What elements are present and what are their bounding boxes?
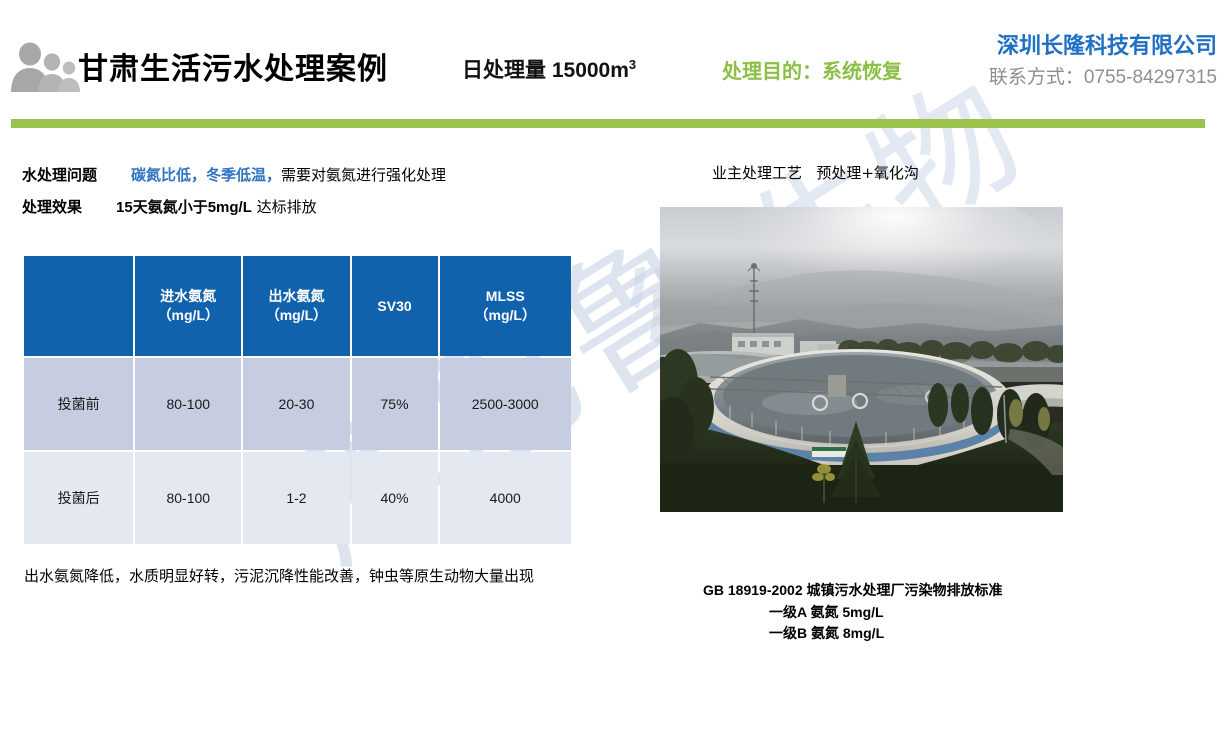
table-header-mlss: MLSS （mg/L）	[440, 256, 572, 356]
treatment-effect-suffix: 达标排放	[257, 198, 317, 216]
slide-header: 甘肃生活污水处理案例 日处理量 15000m3 处理目的：系统恢复 深圳长隆科技…	[0, 0, 1225, 128]
daily-capacity-label: 日处理量 15000m3	[462, 54, 636, 84]
page-title: 甘肃生活污水处理案例	[78, 44, 388, 88]
water-problem-label: 水处理问题	[22, 166, 97, 184]
cell-effluent-after: 1-2	[243, 452, 349, 544]
standard-grade-a-text: 一级A 氨氮 5mg/L	[769, 604, 884, 620]
company-name: 深圳长隆科技有限公司	[997, 28, 1217, 60]
header-mlss-line1: MLSS	[441, 287, 571, 306]
table-header-row: 进水氨氮 （mg/L） 出水氨氮 （mg/L） SV30 MLSS （mg/L）	[24, 256, 571, 356]
water-problem-highlight: 碳氮比低，冬季低温，	[131, 167, 281, 184]
table-header-blank	[24, 256, 133, 356]
table-header-influent: 进水氨氮 （mg/L）	[135, 256, 241, 356]
right-content-column: 业主处理工艺 预处理+氧化沟	[640, 128, 1225, 670]
cell-influent-after: 80-100	[135, 452, 241, 544]
cell-sv30-after: 40%	[352, 452, 438, 544]
table-row: 投菌后 80-100 1-2 40% 4000	[24, 452, 571, 544]
table-header-effluent: 出水氨氮 （mg/L）	[243, 256, 349, 356]
table-header-sv30: SV30	[352, 256, 438, 356]
table-row: 投菌前 80-100 20-30 75% 2500-3000	[24, 358, 571, 450]
cell-sv30-before: 75%	[352, 358, 438, 450]
results-table: 进水氨氮 （mg/L） 出水氨氮 （mg/L） SV30 MLSS （mg/L）	[22, 254, 573, 546]
row-label-before: 投菌前	[24, 358, 133, 450]
contact-info: 联系方式：0755-84297315	[989, 62, 1217, 89]
cell-influent-before: 80-100	[135, 358, 241, 450]
standard-grade-a: 一级A 氨氮 5mg/L	[703, 602, 1003, 624]
discharge-standard-block: GB 18919-2002 城镇污水处理厂污染物排放标准 一级A 氨氮 5mg/…	[703, 580, 1003, 645]
owner-process-label: 业主处理工艺	[712, 164, 802, 182]
cell-mlss-after: 4000	[440, 452, 572, 544]
header-divider	[11, 119, 1205, 128]
owner-process-value: 预处理+氧化沟	[816, 164, 919, 182]
owner-process-row: 业主处理工艺 预处理+氧化沟	[712, 162, 919, 183]
water-problem-rest: 需要对氨氮进行强化处理	[281, 166, 446, 184]
header-effluent-line2: （mg/L）	[244, 306, 348, 325]
standard-grade-b-text: 一级B 氨氮 8mg/L	[769, 625, 884, 641]
left-content-column: 水处理问题碳氮比低，冬季低温，需要对氨氮进行强化处理 处理效果15天氨氮小于5m…	[0, 128, 640, 670]
cell-mlss-before: 2500-3000	[440, 358, 572, 450]
daily-capacity-text: 日处理量 15000m	[462, 59, 629, 82]
results-caption: 出水氨氮降低，水质明显好转，污泥沉降性能改善，钟虫等原生动物大量出现	[24, 565, 534, 586]
treatment-purpose-label: 处理目的：系统恢复	[722, 55, 902, 84]
water-problem-row: 水处理问题碳氮比低，冬季低温，需要对氨氮进行强化处理	[22, 164, 446, 185]
slide-root: 库巴鲁 微生物 甘肃生活污水处理案例 日处理量 15000m3 处理目的：系统恢…	[0, 0, 1225, 670]
treatment-effect-value: 15天氨氮小于5mg/L	[116, 199, 252, 216]
people-group-icon	[8, 40, 80, 92]
header-sv30-line1: SV30	[353, 297, 437, 316]
standard-grade-b: 一级B 氨氮 8mg/L	[703, 623, 1003, 645]
treatment-effect-label: 处理效果	[22, 198, 82, 216]
treatment-effect-row: 处理效果15天氨氮小于5mg/L 达标排放	[22, 196, 317, 217]
header-influent-line1: 进水氨氮	[136, 287, 240, 306]
header-effluent-line1: 出水氨氮	[244, 287, 348, 306]
row-label-after: 投菌后	[24, 452, 133, 544]
header-mlss-line2: （mg/L）	[441, 306, 571, 325]
standard-title: GB 18919-2002 城镇污水处理厂污染物排放标准	[703, 580, 1003, 602]
cell-effluent-before: 20-30	[243, 358, 349, 450]
wastewater-treatment-clarifier-photo	[660, 207, 1063, 512]
header-influent-line2: （mg/L）	[136, 306, 240, 325]
capacity-superscript: 3	[629, 57, 636, 72]
